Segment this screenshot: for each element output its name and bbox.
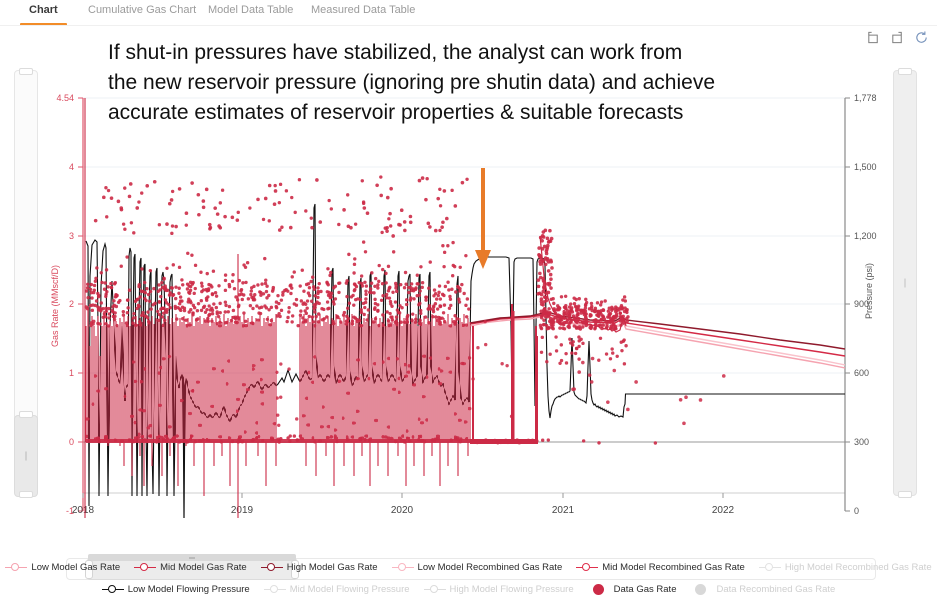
tab-chart-label: Chart (29, 4, 58, 16)
legend-row1-item-1[interactable]: Mid Model Gas Rate (134, 561, 247, 573)
legend-label: Mid Model Recombined Gas Rate (602, 562, 745, 573)
legend-label: Low Model Recombined Gas Rate (418, 562, 563, 573)
tab-measured-data-table[interactable]: Measured Data Table (311, 4, 415, 22)
y-tick-3: 2 (69, 299, 74, 309)
y2-tick-5: 300 (854, 437, 869, 447)
tab-bar: Chart Cumulative Gas Chart Model Data Ta… (0, 0, 937, 26)
y2-tick-6: 0 (854, 506, 859, 516)
tab-cumulative-gas-chart[interactable]: Cumulative Gas Chart (88, 4, 196, 22)
legend-row1-item-0[interactable]: Low Model Gas Rate (5, 561, 120, 573)
legend-label: High Model Flowing Pressure (450, 584, 574, 595)
legend-row2-item-1[interactable]: Mid Model Flowing Pressure (264, 583, 410, 595)
legend-row2-item-2[interactable]: High Model Flowing Pressure (424, 583, 574, 595)
y2-tick-4: 600 (854, 368, 869, 378)
tab-chart[interactable]: Chart (29, 4, 58, 22)
legend-label: High Model Gas Rate (287, 562, 378, 573)
y2-tick-0: 1,778 (854, 93, 877, 103)
x-tick-0: 2018 (72, 505, 95, 516)
legend-row-1: Low Model Gas RateMid Model Gas RateHigh… (0, 556, 937, 578)
legend-row1-item-5[interactable]: High Model Recombined Gas Rate (759, 561, 932, 573)
legend-marker-icon (424, 583, 446, 595)
gas-rate-pressure-plot[interactable]: 4.54 4 3 2 1 0 -1 1,778 1,500 1,200 900 … (0, 26, 937, 526)
legend-label: Data Gas Rate (614, 584, 677, 595)
y2-axis-title: Pressure (psi) (864, 263, 874, 319)
legend-label: Data Recombined Gas Rate (716, 584, 835, 595)
legend-marker-icon (134, 561, 156, 573)
x-tick-4: 2022 (712, 505, 735, 516)
legend-row2-item-3[interactable]: Data Gas Rate (588, 583, 677, 595)
tab-cumulative-gas-chart-label: Cumulative Gas Chart (88, 4, 196, 16)
legend-marker-icon (576, 561, 598, 573)
x-tick-3: 2021 (552, 505, 575, 516)
plot-svg: 4.54 4 3 2 1 0 -1 1,778 1,500 1,200 900 … (0, 26, 937, 526)
legend-marker-icon (264, 583, 286, 595)
legend-label: Mid Model Flowing Pressure (290, 584, 410, 595)
legend-marker-icon (690, 583, 712, 595)
legend-label: Low Model Flowing Pressure (128, 584, 250, 595)
legend-row2-item-0[interactable]: Low Model Flowing Pressure (102, 583, 250, 595)
legend-row1-item-4[interactable]: Mid Model Recombined Gas Rate (576, 561, 745, 573)
legend-marker-icon (5, 561, 27, 573)
tab-model-data-table-label: Model Data Table (208, 4, 293, 16)
y-axis-title: Gas Rate (MMscf/D) (50, 265, 60, 347)
y-tick-0: 4.54 (56, 93, 74, 103)
legend-label: Mid Model Gas Rate (160, 562, 247, 573)
x-axis-ticks: 2018 2019 2020 2021 2022 (72, 493, 735, 516)
chart-area: 4.54 4 3 2 1 0 -1 1,778 1,500 1,200 900 … (0, 26, 937, 526)
y-tick-4: 1 (69, 368, 74, 378)
tab-model-data-table[interactable]: Model Data Table (208, 4, 293, 22)
legend-marker-icon (588, 583, 610, 595)
tab-measured-data-table-label: Measured Data Table (311, 4, 415, 16)
legend-row2-item-4[interactable]: Data Recombined Gas Rate (690, 583, 835, 595)
y2-tick-2: 1,200 (854, 231, 877, 241)
legend-label: High Model Recombined Gas Rate (785, 562, 932, 573)
y2-tick-1: 1,500 (854, 162, 877, 172)
chart-legend: Low Model Gas RateMid Model Gas RateHigh… (0, 556, 937, 604)
x-tick-1: 2019 (231, 505, 254, 516)
legend-row-2: Low Model Flowing PressureMid Model Flow… (0, 578, 937, 600)
legend-label: Low Model Gas Rate (31, 562, 120, 573)
x-tick-2: 2020 (391, 505, 414, 516)
y-tick-5: 0 (69, 437, 74, 447)
y-tick-2: 3 (69, 231, 74, 241)
legend-marker-icon (392, 561, 414, 573)
legend-row1-item-2[interactable]: High Model Gas Rate (261, 561, 378, 573)
legend-row1-item-3[interactable]: Low Model Recombined Gas Rate (392, 561, 563, 573)
left-axis-ticks: 4.54 4 3 2 1 0 -1 (56, 93, 83, 516)
legend-marker-icon (102, 583, 124, 595)
y-tick-1: 4 (69, 162, 74, 172)
legend-marker-icon (261, 561, 283, 573)
legend-marker-icon (759, 561, 781, 573)
